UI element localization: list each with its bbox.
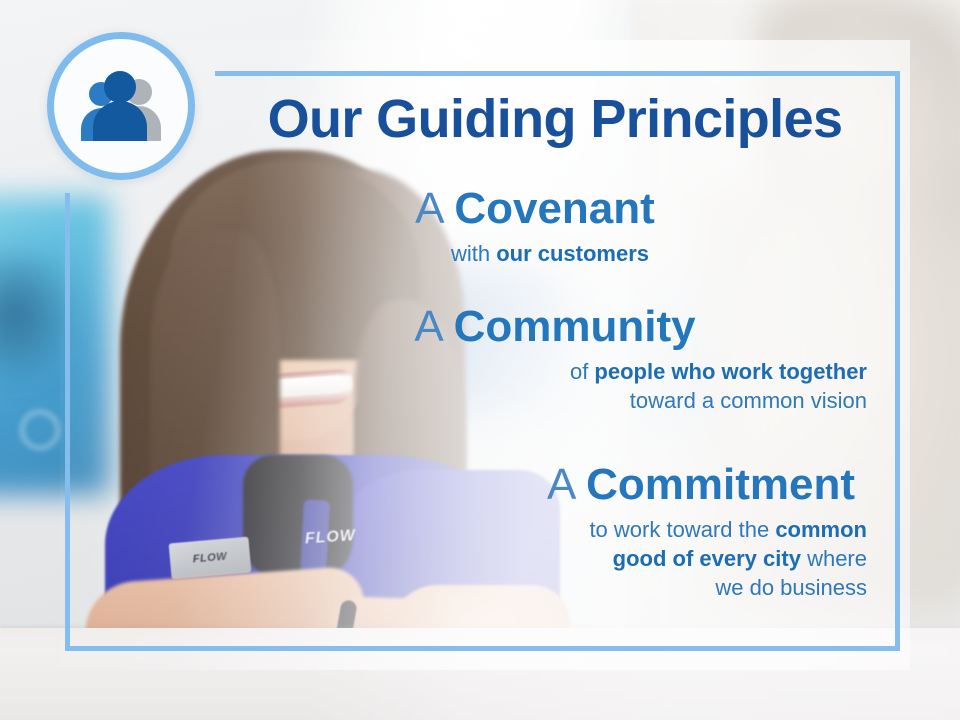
people-group-icon [47, 32, 195, 180]
text-content: Our Guiding Principles A Covenant with o… [215, 76, 895, 646]
principle-community: A Community of people who work together … [215, 304, 895, 415]
commitment-sub-line-3: we do business [215, 573, 867, 602]
principle-commitment-article: A [547, 460, 586, 509]
principle-covenant-word: Covenant [454, 184, 654, 233]
principle-commitment: A Commitment to work toward the common g… [215, 462, 895, 602]
commitment-sub-line-1: to work toward the common [215, 515, 867, 544]
commitment-sub-line-2: good of every city where [215, 544, 867, 573]
commitment-sub-bold-1a: common [775, 517, 867, 542]
principle-covenant-subtitle: with our customers [215, 239, 895, 268]
principle-commitment-heading: A Commitment [215, 462, 895, 509]
principle-community-subtitle: of people who work together toward a com… [215, 357, 895, 416]
commitment-sub-regular-2a: where [807, 546, 867, 571]
commitment-sub-bold-1b: good of every city [613, 546, 801, 571]
community-sub-line-1: of people who work together [215, 357, 867, 386]
principle-community-heading: A Community [215, 304, 895, 351]
page-title: Our Guiding Principles [215, 92, 895, 146]
frame-right-border [895, 71, 900, 651]
principle-commitment-word: Commitment [586, 460, 855, 509]
principle-commitment-subtitle: to work toward the common good of every … [215, 515, 895, 603]
community-sub-line-2: toward a common vision [215, 386, 867, 415]
commitment-sub-regular-1: to work toward the [589, 517, 775, 542]
frame-bottom-border [65, 646, 900, 651]
principle-covenant-article: A [415, 184, 454, 233]
community-sub-regular-1: of [570, 359, 594, 384]
community-sub-bold-1: people who work together [594, 359, 867, 384]
principle-community-article: A [414, 302, 453, 351]
covenant-sub-bold-1: our customers [496, 241, 649, 266]
commitment-sub-regular-2b: we do business [715, 575, 867, 600]
covenant-sub-regular-1: with [451, 241, 496, 266]
principle-covenant: A Covenant with our customers [215, 186, 895, 268]
frame-left-border [65, 193, 70, 651]
poster: FLOW FLOW Our Guiding Prin [0, 0, 960, 720]
principle-covenant-heading: A Covenant [215, 186, 895, 233]
principle-community-word: Community [454, 302, 696, 351]
